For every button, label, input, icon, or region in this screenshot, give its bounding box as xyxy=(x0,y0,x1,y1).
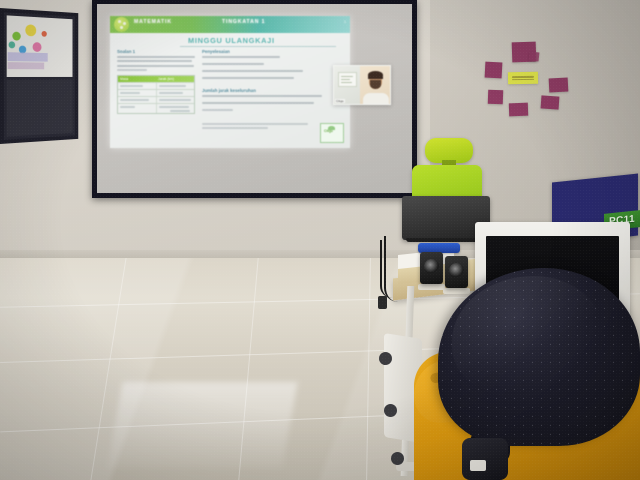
table-header-row: Masa Jarak (km) xyxy=(118,76,194,82)
slide-subject-label: MATEMATIK xyxy=(134,19,172,25)
solution-label-2: Jumlah jarak keseluruhan xyxy=(202,88,342,93)
list-item xyxy=(509,103,528,117)
participant-name-label: Cikgu xyxy=(335,99,345,103)
projection-surface: MATEMATIK TINGKATAN 1 1 MINGGU ULANGKAJI… xyxy=(97,4,412,193)
cable-plug xyxy=(378,296,387,309)
slide-table: Masa Jarak (km) xyxy=(117,75,195,114)
desktop-speaker xyxy=(445,256,468,288)
power-cable xyxy=(380,240,392,298)
chair-caster xyxy=(379,352,392,365)
slide-header-band: MATEMATIK TINGKATAN 1 1 xyxy=(110,16,350,33)
slide-left-column: Soalan 1 Masa Jarak (km) xyxy=(117,49,195,114)
list-item xyxy=(485,62,503,79)
notice-board xyxy=(0,8,78,144)
projected-slide: MATEMATIK TINGKATAN 1 1 MINGGU ULANGKAJI… xyxy=(110,16,350,148)
yellow-label-note xyxy=(508,72,538,85)
question-label: Soalan 1 xyxy=(117,49,195,54)
chair-caster xyxy=(384,404,397,417)
webcam-video-pane xyxy=(360,66,390,104)
list-item xyxy=(549,78,569,93)
poster-text-strip xyxy=(8,52,48,62)
slide-level-label: TINGKATAN 1 xyxy=(222,19,265,25)
list-item xyxy=(488,90,503,105)
table-row xyxy=(118,96,194,103)
slide-title-rule xyxy=(180,46,336,47)
notice-board-lower xyxy=(7,80,73,137)
participant-hair xyxy=(368,71,383,79)
participant-beard xyxy=(370,80,381,89)
slide-page-number: 1 xyxy=(344,20,346,24)
footer-logo-text: Cikgu xyxy=(324,129,333,133)
webcam-participant-tile[interactable]: Cikgu xyxy=(333,65,391,105)
participant-torso xyxy=(363,93,389,104)
student-bag xyxy=(462,438,508,480)
table-row xyxy=(118,103,194,113)
speaker-base xyxy=(443,288,470,294)
list-item xyxy=(529,52,540,62)
speaker-base xyxy=(418,284,445,290)
slide-right-column: Penyelesaian Jumlah jarak keseluruhan xyxy=(202,49,342,113)
slide-footer-logo: Cikgu xyxy=(320,123,344,143)
desktop-speaker xyxy=(420,252,443,284)
slide-footer xyxy=(202,123,308,132)
green-circle-logo-icon xyxy=(114,17,129,32)
solution-label: Penyelesaian xyxy=(202,49,342,54)
hijab-pattern xyxy=(438,268,640,446)
table-row xyxy=(118,82,194,89)
table-row xyxy=(118,89,194,96)
list-item xyxy=(541,95,560,109)
poster-text-strip xyxy=(8,62,45,69)
table-header-cell: Masa xyxy=(118,76,156,82)
slide-title: MINGGU ULANGKAJI xyxy=(188,36,275,45)
bag-tag xyxy=(470,460,486,471)
document-thumbnail-icon xyxy=(338,72,357,87)
chair-caster xyxy=(391,452,404,465)
classroom-photo: MATEMATIK TINGKATAN 1 1 MINGGU ULANGKAJI… xyxy=(0,0,640,480)
table-header-cell: Jarak (km) xyxy=(156,76,194,82)
projector-screen-frame: MATEMATIK TINGKATAN 1 1 MINGGU ULANGKAJI… xyxy=(92,0,417,198)
